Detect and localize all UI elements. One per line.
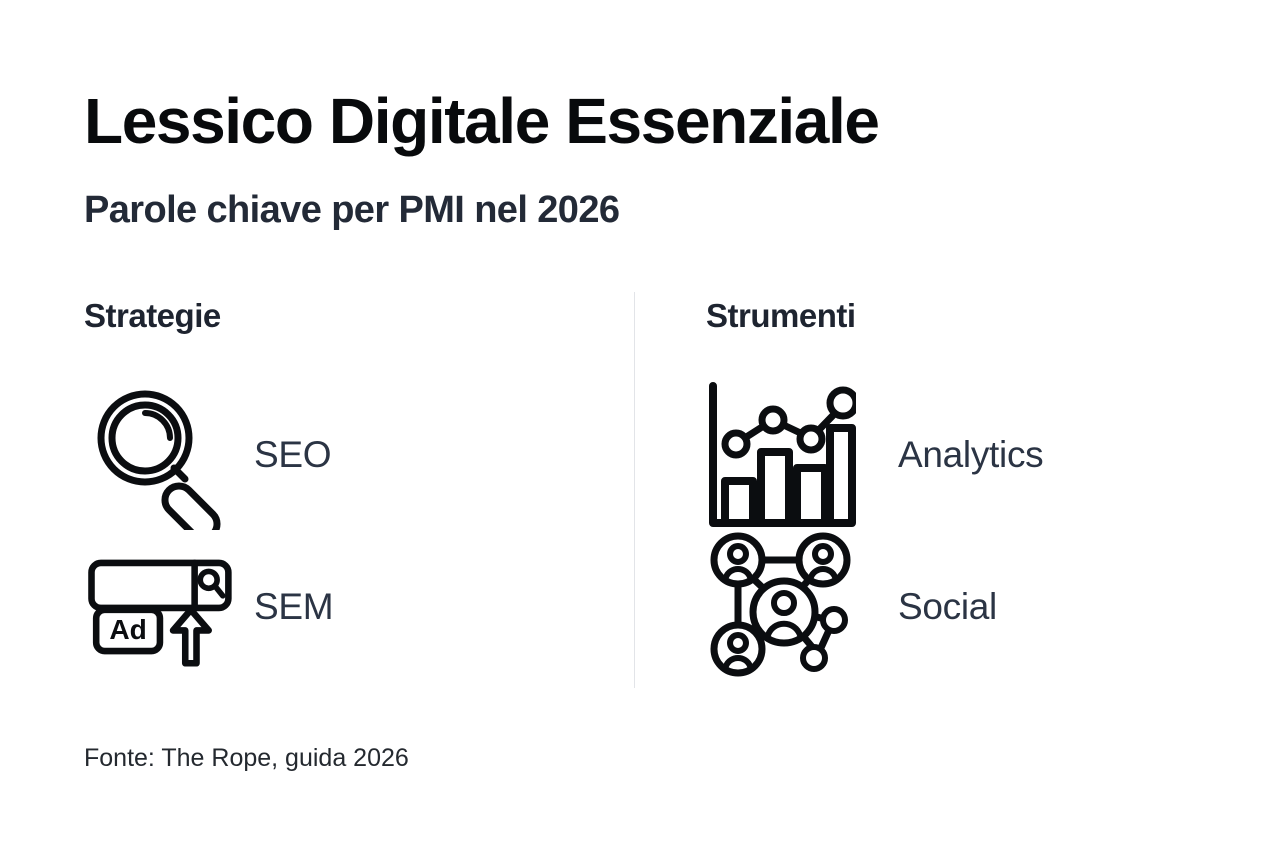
source-note: Fonte: The Rope, guida 2026 [84,742,409,774]
list-item-label-social: Social [898,585,997,629]
list-item-analytics[interactable]: Analytics [706,380,1186,530]
search-ad-icon: Ad [84,532,234,682]
page-subtitle: Parole chiave per PMI nel 2026 [84,186,1184,234]
list-item-label-analytics: Analytics [898,433,1043,477]
column-heading-strumenti: Strumenti [706,296,1186,336]
list-item-social[interactable]: Social [706,532,1186,682]
column-strategie: Strategie SEO [84,296,604,684]
social-network-icon [706,532,866,682]
column-heading-strategie: Strategie [84,296,604,336]
list-item-label-seo: SEO [254,433,331,477]
column-divider [634,292,635,688]
magnifying-glass-icon [84,380,234,530]
list-item-seo[interactable]: SEO [84,380,604,530]
bar-chart-line-icon [706,380,866,530]
infographic-canvas: Lessico Digitale Essenziale Parole chiav… [0,0,1264,848]
page-title: Lessico Digitale Essenziale [84,84,1184,158]
list-item-sem[interactable]: Ad SEM [84,532,604,682]
list-item-label-sem: SEM [254,585,333,629]
column-strumenti: Strumenti [706,296,1186,684]
svg-text:Ad: Ad [109,614,146,645]
